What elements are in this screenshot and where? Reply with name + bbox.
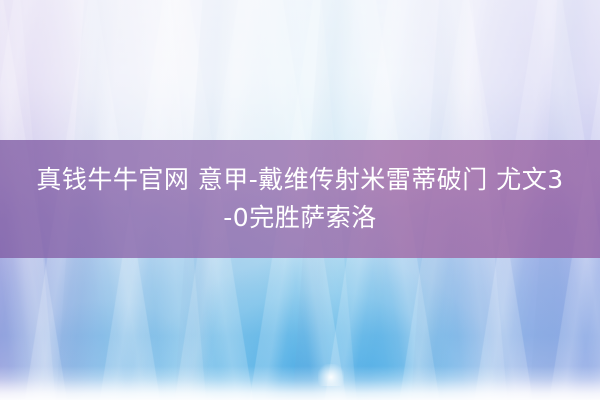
caption-band: 真钱牛牛官网 意甲-戴维传射米雷蒂破门 尤文3 -0完胜萨索洛 <box>0 140 600 258</box>
light-sparkle-icon <box>318 364 344 386</box>
decorative-news-banner: 真钱牛牛官网 意甲-戴维传射米雷蒂破门 尤文3 -0完胜萨索洛 <box>0 0 600 400</box>
bottom-white-fade <box>0 366 600 400</box>
caption-line-2: -0完胜萨索洛 <box>223 199 376 237</box>
caption-line-1: 真钱牛牛官网 意甲-戴维传射米雷蒂破门 尤文3 <box>36 161 563 199</box>
